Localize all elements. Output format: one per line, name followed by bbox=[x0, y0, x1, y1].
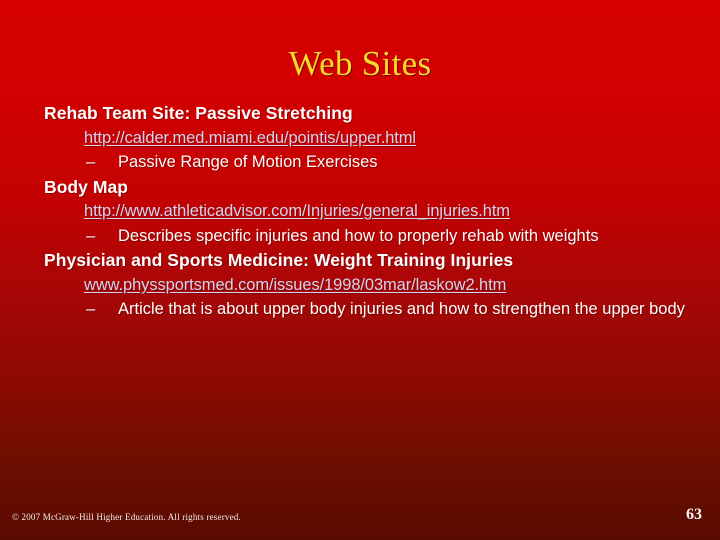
content-block: Rehab Team Site: Passive Stretching http… bbox=[44, 101, 690, 175]
dash-bullet-icon: – bbox=[86, 224, 118, 249]
page-number: 63 bbox=[686, 505, 702, 525]
resource-detail: –Article that is about upper body injuri… bbox=[86, 297, 690, 322]
content-block: Body Map http://www.athleticadvisor.com/… bbox=[44, 175, 690, 249]
resource-heading: Body Map bbox=[44, 175, 690, 200]
resource-link[interactable]: http://www.athleticadvisor.com/Injuries/… bbox=[84, 202, 510, 220]
resource-link[interactable]: http://calder.med.miami.edu/pointis/uppe… bbox=[84, 129, 416, 147]
resource-detail: –Describes specific injuries and how to … bbox=[86, 224, 690, 249]
resource-url-line: http://calder.med.miami.edu/pointis/uppe… bbox=[84, 126, 690, 151]
slide-title-area: Web Sites bbox=[0, 44, 720, 84]
resource-heading: Rehab Team Site: Passive Stretching bbox=[44, 101, 690, 126]
resource-heading: Physician and Sports Medicine: Weight Tr… bbox=[44, 248, 690, 273]
slide-body: Rehab Team Site: Passive Stretching http… bbox=[44, 101, 690, 322]
dash-bullet-icon: – bbox=[86, 150, 118, 175]
page-title: Web Sites bbox=[289, 44, 432, 84]
resource-url-line: http://www.athleticadvisor.com/Injuries/… bbox=[84, 199, 690, 224]
resource-url-line: www.physsportsmed.com/issues/1998/03mar/… bbox=[84, 273, 690, 298]
resource-detail: –Passive Range of Motion Exercises bbox=[86, 150, 690, 175]
resource-link[interactable]: www.physsportsmed.com/issues/1998/03mar/… bbox=[84, 276, 506, 294]
resource-detail-text: Article that is about upper body injurie… bbox=[118, 300, 685, 318]
resource-detail-text: Describes specific injuries and how to p… bbox=[118, 227, 599, 245]
dash-bullet-icon: – bbox=[86, 297, 118, 322]
resource-detail-text: Passive Range of Motion Exercises bbox=[118, 153, 378, 171]
slide-canvas: Web Sites Rehab Team Site: Passive Stret… bbox=[0, 0, 720, 540]
content-block: Physician and Sports Medicine: Weight Tr… bbox=[44, 248, 690, 322]
copyright-notice: © 2007 McGraw-Hill Higher Education. All… bbox=[12, 511, 241, 523]
